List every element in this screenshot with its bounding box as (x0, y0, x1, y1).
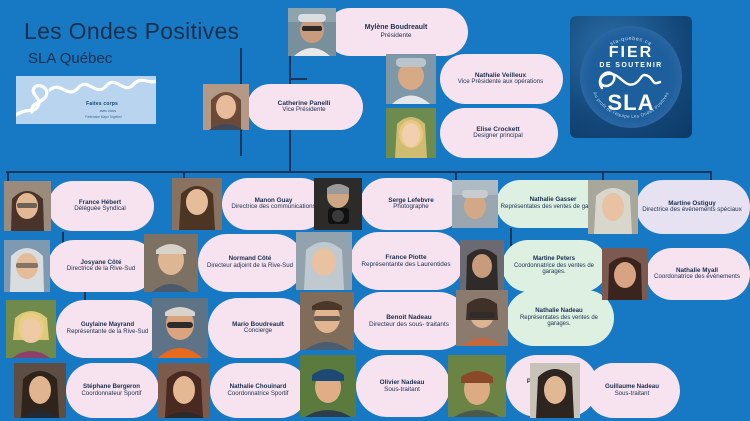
org-node-role: Photographe (393, 204, 428, 211)
org-node[interactable]: Stéphane Bergeron Coordonnateur Sportif (14, 363, 159, 418)
org-node-name: Benoit Nadeau (386, 314, 432, 321)
sponsor-line-2: avec nous (100, 109, 116, 113)
avatar-image (314, 178, 362, 230)
org-node[interactable]: Martine Ostiguy Directrice des événement… (588, 180, 750, 234)
org-node-role: Vice Présidente (282, 107, 325, 114)
avatar-image (144, 234, 198, 292)
avatar-image (386, 54, 436, 104)
avatar[interactable] (300, 355, 356, 417)
badge-line-sla: SLA (570, 90, 692, 116)
org-node-pill: Guillaume Nadeau Sous-traitant (586, 363, 680, 418)
org-node-pill: Guylaine Mayrand Représentante de la Riv… (56, 300, 161, 358)
avatar-image (300, 292, 354, 350)
org-node-name: France Piotte (385, 254, 426, 261)
avatar-image (6, 300, 56, 358)
org-node-pill: Serge Lefebvre Photographe (360, 178, 464, 230)
sponsor-line-1: Faites corps (86, 101, 118, 107)
org-node-role: Représentante des Laurentides (361, 261, 450, 268)
avatar-image (158, 363, 210, 418)
org-node[interactable]: Olivier Nadeau Sous-traitant (300, 355, 450, 417)
org-node[interactable]: Josyane Côté Directrice de la Rive-Sud (4, 240, 156, 292)
org-node-role: Coordonnateur Sportif (82, 391, 142, 398)
org-node[interactable]: France Piotte Représentante des Laurenti… (296, 232, 464, 290)
org-node-role: Sous-traitant (384, 386, 420, 393)
org-node-pill: Stéphane Bergeron Coordonnateur Sportif (66, 363, 159, 418)
avatar-image (602, 248, 648, 300)
connector-h-bus (6, 171, 712, 173)
avatar[interactable] (530, 363, 580, 418)
org-node-role: Directrice de la Rive-Sud (67, 266, 135, 273)
avatar-image (300, 355, 356, 417)
avatar[interactable] (4, 240, 50, 292)
org-node-role: Représentante de la Rive-Sud (67, 329, 149, 336)
org-node[interactable]: Mario Boudreault Concierge (152, 298, 310, 358)
org-node-role: Coordonnatrice Sportif (228, 391, 289, 398)
avatar[interactable] (158, 363, 210, 418)
org-node-role: Déléguée Syndical (74, 206, 126, 213)
org-node-pill: Nathalie Myall Coordonatrice des événeme… (646, 248, 750, 300)
avatar-image (448, 355, 506, 417)
avatar-image (296, 232, 352, 290)
org-node-role: Directrice des événements spéciaux (642, 207, 741, 214)
page-title: Les Ondes Positives (24, 18, 239, 45)
org-node[interactable]: Serge Lefebvre Photographe (314, 178, 464, 230)
org-node[interactable]: Normand Côté Directeur adjoint de la Riv… (144, 234, 304, 292)
avatar[interactable] (452, 180, 498, 228)
org-node-pill: France Piotte Représentante des Laurenti… (350, 232, 464, 290)
avatar[interactable] (144, 234, 198, 292)
page-subtitle: SLA Québec (28, 50, 112, 67)
org-node-pill: Elise Crockett Designer principal (440, 108, 558, 158)
org-node-pill: Nathalie Veilleux Vice Présidente aux op… (440, 54, 563, 104)
org-node-role: Sous-traitant (615, 391, 650, 398)
org-node[interactable]: Nathalie Veilleux Vice Présidente aux op… (378, 54, 563, 104)
org-node-pill: Josyane Côté Directrice de la Rive-Sud (48, 240, 156, 292)
org-node-pill: Manon Guay Directrice des communications (222, 178, 327, 230)
avatar-image (588, 180, 638, 234)
avatar[interactable] (203, 84, 249, 130)
avatar[interactable] (460, 240, 504, 292)
avatar-image (460, 240, 504, 292)
org-node-name: Martine Peters (533, 256, 575, 263)
avatar-image (456, 290, 508, 346)
org-node[interactable]: Guylaine Mayrand Représentante de la Riv… (6, 300, 161, 358)
org-node[interactable]: Guillaume Nadeau Sous-traitant (530, 363, 680, 418)
org-node-role: Coordonatrice des événements (654, 274, 740, 281)
badge-line-soutenir: DE SOUTENIR (570, 62, 692, 69)
org-node-role: Présidente (380, 32, 411, 39)
org-node-pill: Martine Ostiguy Directrice des événement… (636, 180, 750, 234)
avatar[interactable] (448, 355, 506, 417)
org-node-pill: Benoit Nadeau Directeur des sous- traita… (352, 292, 468, 350)
org-node-role: Directrice des communications (231, 204, 315, 211)
org-node-pill: Nathalie Chouinard Coordonnatrice Sporti… (210, 363, 308, 418)
org-node-role: Vice Présidente aux opérations (458, 79, 544, 86)
org-node-pill: Mario Boudreault Concierge (208, 298, 310, 358)
avatar[interactable] (386, 54, 436, 104)
avatar-image (452, 180, 498, 228)
org-node[interactable]: Mylène Boudreault Présidente (288, 8, 468, 56)
org-node-pill: Normand Côté Directeur adjoint de la Riv… (198, 234, 304, 292)
avatar[interactable] (300, 292, 354, 350)
avatar[interactable] (288, 8, 336, 56)
org-node-name: Nathalie Nadeau (535, 308, 582, 315)
org-node-pill: Catherine Panelli Vice Présidente (247, 84, 363, 130)
org-node-role: Designer principal (473, 133, 523, 140)
org-node-role: Représentates des ventes de garages. (510, 315, 608, 328)
avatar-image (4, 181, 51, 231)
org-node[interactable]: Nathalie Nadeau Représentates des ventes… (456, 290, 614, 346)
avatar[interactable] (588, 180, 638, 234)
avatar-image (530, 363, 580, 418)
badge-line-fier: FIER (570, 44, 692, 62)
avatar[interactable] (4, 181, 51, 231)
org-node-pill: Olivier Nadeau Sous-traitant (356, 355, 450, 417)
sponsor-line-3: Partenaire Major Together (85, 115, 122, 119)
avatar[interactable] (314, 178, 362, 230)
avatar-image (288, 8, 336, 56)
org-node-name: Olivier Nadeau (380, 379, 425, 386)
avatar-image (172, 178, 222, 230)
sponsor-logo-card: Faites corps avec nous Partenaire Major … (16, 76, 156, 124)
avatar[interactable] (172, 178, 222, 230)
org-node-pill: Martine Peters Coordonnatrice des ventes… (502, 240, 608, 292)
avatar-image (14, 363, 66, 418)
avatar-image (386, 108, 436, 158)
org-node-name: Mylène Boudreault (365, 24, 428, 32)
avatar[interactable] (602, 248, 648, 300)
avatar[interactable] (296, 232, 352, 290)
avatar-image (152, 298, 208, 358)
org-node[interactable]: Benoit Nadeau Directeur des sous- traita… (300, 292, 468, 350)
org-node[interactable]: Nathalie Chouinard Coordonnatrice Sporti… (158, 363, 308, 418)
org-node-pill: Nathalie Nadeau Représentates des ventes… (506, 290, 614, 346)
org-node[interactable]: France Hébert Déléguée Syndical (4, 181, 154, 231)
avatar[interactable] (456, 290, 508, 346)
org-node-pill: Mylène Boudreault Présidente (326, 8, 468, 56)
avatar[interactable] (152, 298, 208, 358)
org-node-role: Concierge (244, 328, 272, 335)
avatar-image (4, 240, 50, 292)
avatar[interactable] (6, 300, 56, 358)
org-node[interactable]: Elise Crockett Designer principal (378, 108, 558, 158)
org-node-role: Coordonnatrice des ventes de garages. (506, 263, 602, 276)
org-node-pill: France Hébert Déléguée Syndical (48, 181, 154, 231)
org-node-role: Directeur des sous- traitants (369, 321, 449, 328)
avatar[interactable] (386, 108, 436, 158)
org-node-role: Directeur adjoint de la Rive-Sud (207, 263, 293, 270)
org-node[interactable]: Catherine Panelli Vice Présidente (203, 84, 363, 130)
org-node[interactable]: Nathalie Myall Coordonatrice des événeme… (602, 248, 750, 300)
org-node[interactable]: Manon Guay Directrice des communications (172, 178, 327, 230)
sla-sponsor-badge: sla-quebec.ca Au profit de l'équipe Les … (570, 16, 692, 138)
org-chart-slide: Les Ondes Positives SLA Québec Faites co… (0, 0, 750, 421)
avatar[interactable] (14, 363, 66, 418)
avatar-image (203, 84, 249, 130)
org-node[interactable]: Martine Peters Coordonnatrice des ventes… (460, 240, 608, 292)
connector-h-vpops (289, 78, 307, 80)
